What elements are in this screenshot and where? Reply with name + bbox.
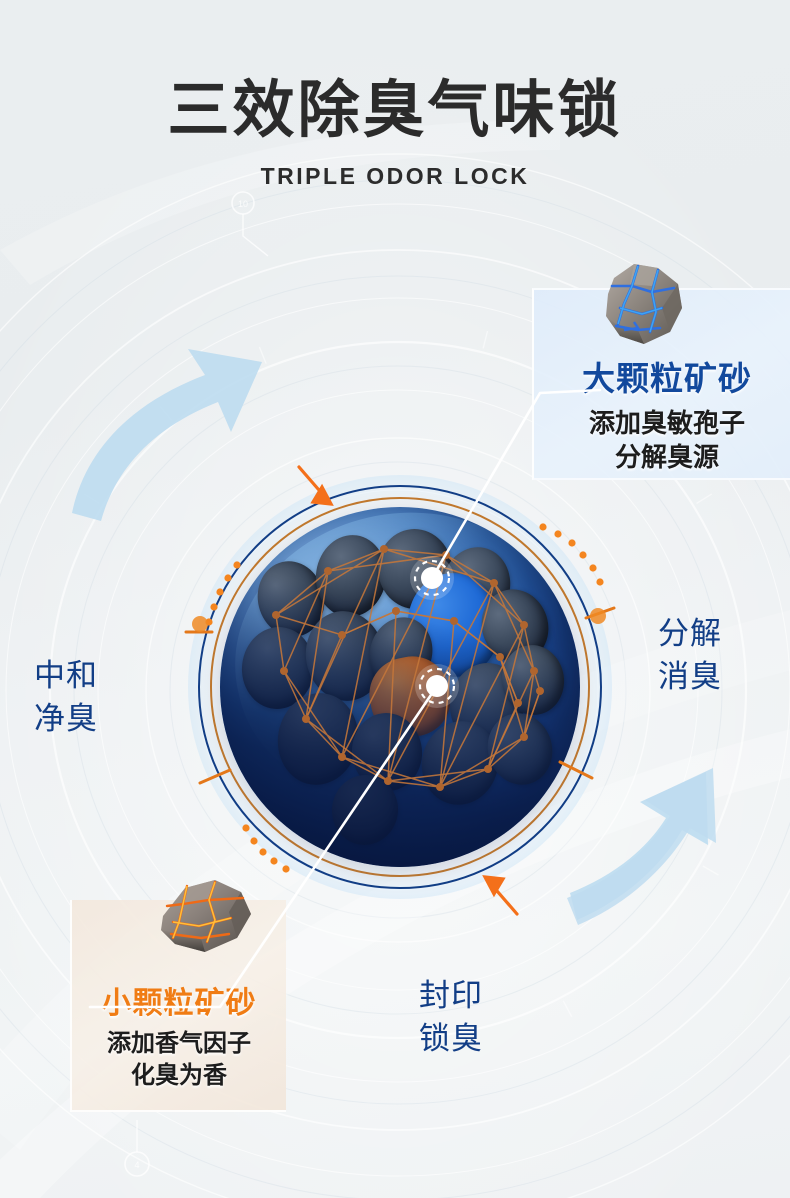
label-decompose: 分解 消臭 <box>658 613 722 699</box>
page-title-en: TRIPLE ODOR LOCK <box>0 163 790 190</box>
card-large-title: 大颗粒矿砂 <box>534 352 790 400</box>
card-small-title: 小颗粒矿砂 <box>72 978 286 1022</box>
card-large-subtitle: 添加臭敏孢子 分解臭源 <box>534 407 790 475</box>
label-seal: 封印 锁臭 <box>419 975 483 1061</box>
header: 三效除臭气味锁 TRIPLE ODOR LOCK <box>0 0 790 190</box>
poster-stage: 10 4 三效除臭气味锁 TRIPLE ODOR LOCK <box>0 0 790 1198</box>
svg-text:10: 10 <box>238 199 248 209</box>
page-title-cn: 三效除臭气味锁 <box>0 78 790 143</box>
small-mineral-rock-icon <box>145 872 259 964</box>
molecular-mesh-overlay <box>188 475 612 899</box>
large-mineral-rock-icon <box>586 258 694 352</box>
card-small-subtitle: 添加香气因子 化臭为香 <box>72 1028 286 1091</box>
label-neutralize: 中和 净臭 <box>34 655 98 741</box>
svg-text:4: 4 <box>134 1160 139 1170</box>
odor-lock-sphere <box>188 475 612 899</box>
